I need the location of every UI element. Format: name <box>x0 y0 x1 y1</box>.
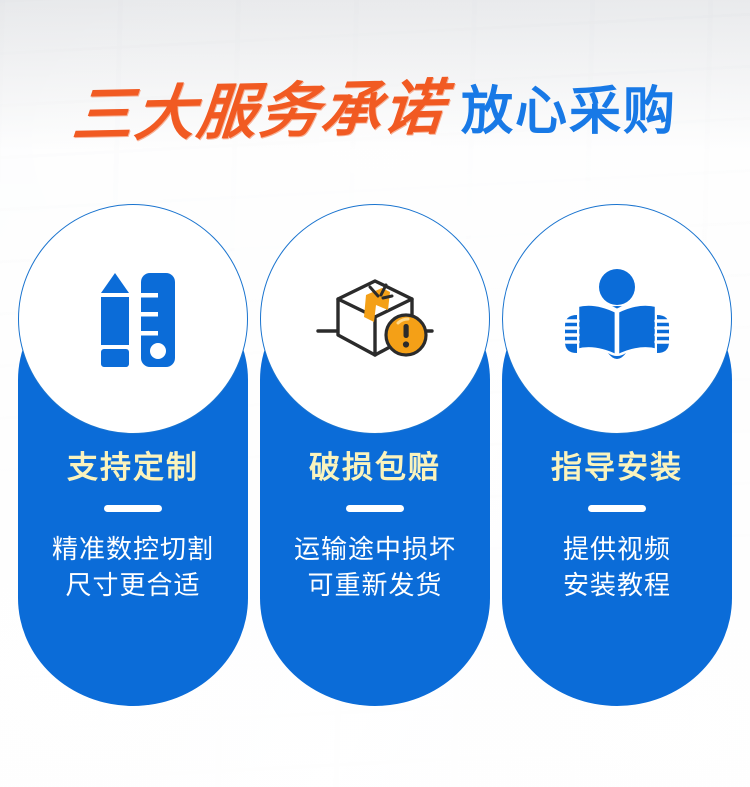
pencil-ruler-icon <box>67 261 199 377</box>
card-title: 指导安装 <box>502 452 732 483</box>
card-divider <box>588 505 646 512</box>
card-description: 提供视频 安装教程 <box>502 532 732 603</box>
service-card-list: 支持定制 精准数控切割 尺寸更合适 <box>18 204 732 706</box>
card-description: 精准数控切割 尺寸更合适 <box>18 532 248 603</box>
card-divider <box>346 505 404 512</box>
service-card-damage-compensation[interactable]: 破损包赔 运输途中损坏 可重新发货 <box>260 204 490 706</box>
card-title: 支持定制 <box>18 452 248 483</box>
service-promise-poster: 三大服务承诺 放心采购 <box>0 0 750 787</box>
page-title: 三大服务承诺 放心采购 <box>0 74 750 150</box>
card-description-line-2: 安装教程 <box>502 568 732 604</box>
card-description-line-1: 提供视频 <box>502 532 732 568</box>
card-divider <box>104 505 162 512</box>
card-description: 运输途中损坏 可重新发货 <box>260 532 490 603</box>
damaged-box-warning-icon <box>309 261 441 377</box>
card-description-line-1: 精准数控切割 <box>18 532 248 568</box>
card-icon-circle <box>18 204 248 434</box>
card-icon-circle <box>502 204 732 434</box>
card-title: 破损包赔 <box>260 452 490 483</box>
card-description-line-2: 尺寸更合适 <box>18 568 248 604</box>
card-text-block: 破损包赔 运输途中损坏 可重新发货 <box>260 452 490 603</box>
card-text-block: 指导安装 提供视频 安装教程 <box>502 452 732 603</box>
service-card-installation-guide[interactable]: 指导安装 提供视频 安装教程 <box>502 204 732 706</box>
service-card-customization[interactable]: 支持定制 精准数控切割 尺寸更合适 <box>18 204 248 706</box>
card-description-line-1: 运输途中损坏 <box>260 532 490 568</box>
card-description-line-2: 可重新发货 <box>260 568 490 604</box>
card-icon-circle <box>260 204 490 434</box>
person-reading-book-icon <box>551 261 683 377</box>
page-title-brush-text: 三大服务承诺 <box>70 78 448 146</box>
page-title-blue-text: 放心采购 <box>461 86 677 138</box>
card-text-block: 支持定制 精准数控切割 尺寸更合适 <box>18 452 248 603</box>
